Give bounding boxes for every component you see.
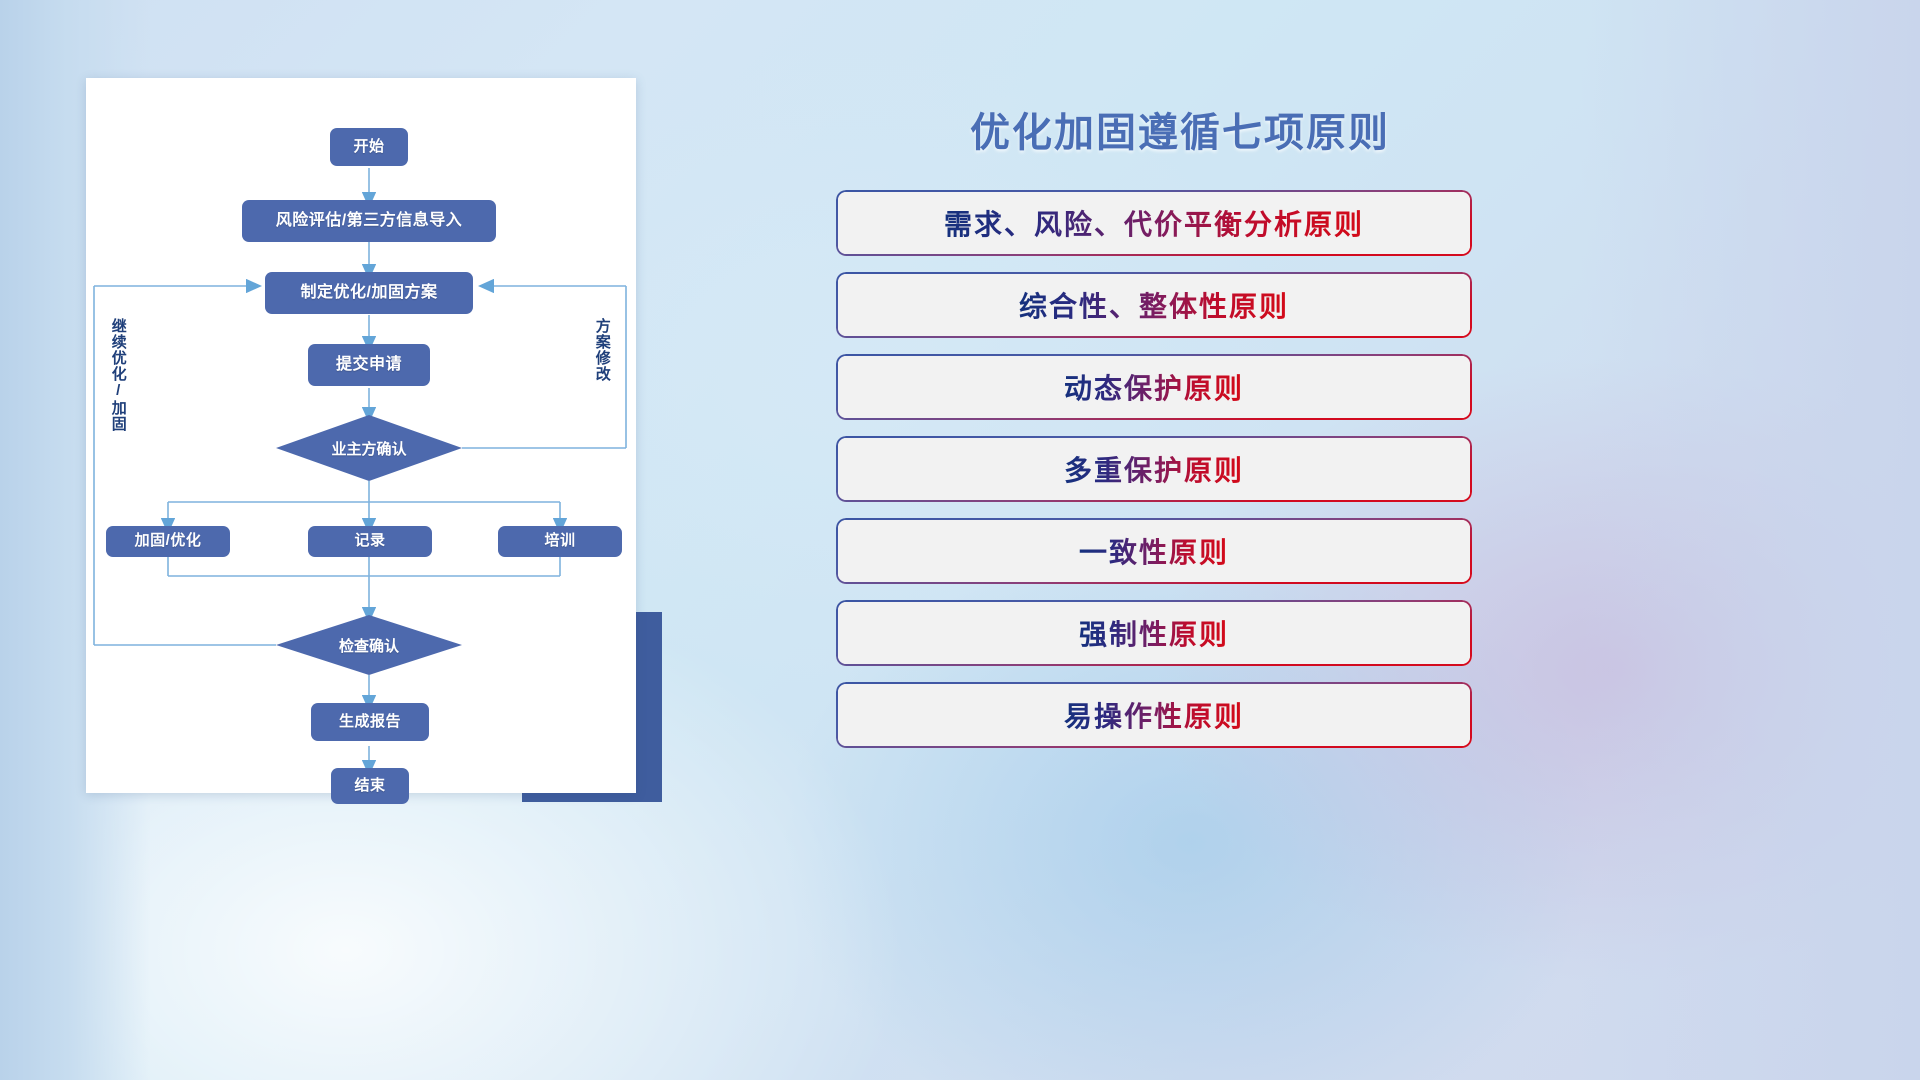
flow-node-record[interactable]: 记录 [308, 526, 432, 557]
principle-item[interactable]: 综合性、整体性原则 [836, 272, 1472, 338]
principle-item[interactable]: 动态保护原则 [836, 354, 1472, 420]
flow-node-submit-application[interactable]: 提交申请 [308, 344, 430, 386]
flow-node-training[interactable]: 培训 [498, 526, 622, 557]
slide-canvas: 开始 风险评估/第三方信息导入 制定优化/加固方案 提交申请 业主方确认 加固/… [0, 0, 1920, 1080]
principle-item-inner: 强制性原则 [838, 602, 1470, 664]
flow-node-plan[interactable]: 制定优化/加固方案 [265, 272, 473, 314]
principle-item[interactable]: 需求、风险、代价平衡分析原则 [836, 190, 1472, 256]
flowchart-card: 开始 风险评估/第三方信息导入 制定优化/加固方案 提交申请 业主方确认 加固/… [86, 78, 636, 793]
principle-item[interactable]: 一致性原则 [836, 518, 1472, 584]
principle-item-inner: 需求、风险、代价平衡分析原则 [838, 192, 1470, 254]
flowchart: 开始 风险评估/第三方信息导入 制定优化/加固方案 提交申请 业主方确认 加固/… [86, 78, 636, 793]
principle-item-inner: 多重保护原则 [838, 438, 1470, 500]
principles-list: 需求、风险、代价平衡分析原则 综合性、整体性原则 动态保护原则 多重保护原则 [836, 190, 1476, 764]
flow-node-risk-assessment[interactable]: 风险评估/第三方信息导入 [242, 200, 496, 242]
flow-node-label: 业主方确认 [331, 438, 406, 459]
principle-label: 强制性原则 [1079, 613, 1229, 653]
principle-item[interactable]: 多重保护原则 [836, 436, 1472, 502]
principle-item-inner: 综合性、整体性原则 [838, 274, 1470, 336]
principle-label: 需求、风险、代价平衡分析原则 [944, 203, 1364, 243]
principle-item[interactable]: 易操作性原则 [836, 682, 1472, 748]
principle-item-inner: 动态保护原则 [838, 356, 1470, 418]
flow-node-start[interactable]: 开始 [330, 128, 408, 166]
principle-item[interactable]: 强制性原则 [836, 600, 1472, 666]
flow-node-owner-confirmation[interactable]: 业主方确认 [276, 415, 462, 481]
edge-label-plan-revision: 方案修改 [594, 318, 610, 418]
flow-node-label: 检查确认 [339, 635, 399, 656]
principles-panel: 优化加固遵循七项原则 需求、风险、代价平衡分析原则 综合性、整体性原则 动态保护… [830, 80, 1530, 840]
flow-node-reinforce-optimize[interactable]: 加固/优化 [106, 526, 230, 557]
principle-label: 多重保护原则 [1064, 449, 1244, 489]
principle-label: 易操作性原则 [1064, 695, 1244, 735]
principle-item-inner: 易操作性原则 [838, 684, 1470, 746]
principle-item-inner: 一致性原则 [838, 520, 1470, 582]
principle-label: 综合性、整体性原则 [1019, 285, 1289, 325]
flow-node-generate-report[interactable]: 生成报告 [311, 703, 429, 741]
panel-title: 优化加固遵循七项原则 [830, 100, 1530, 158]
flow-node-end[interactable]: 结束 [331, 768, 409, 804]
edge-label-continue-optimize: 继续优化/加固 [110, 318, 126, 458]
principle-label: 动态保护原则 [1064, 367, 1244, 407]
principle-label: 一致性原则 [1079, 531, 1229, 571]
flow-node-inspection-confirmation[interactable]: 检查确认 [276, 615, 462, 675]
